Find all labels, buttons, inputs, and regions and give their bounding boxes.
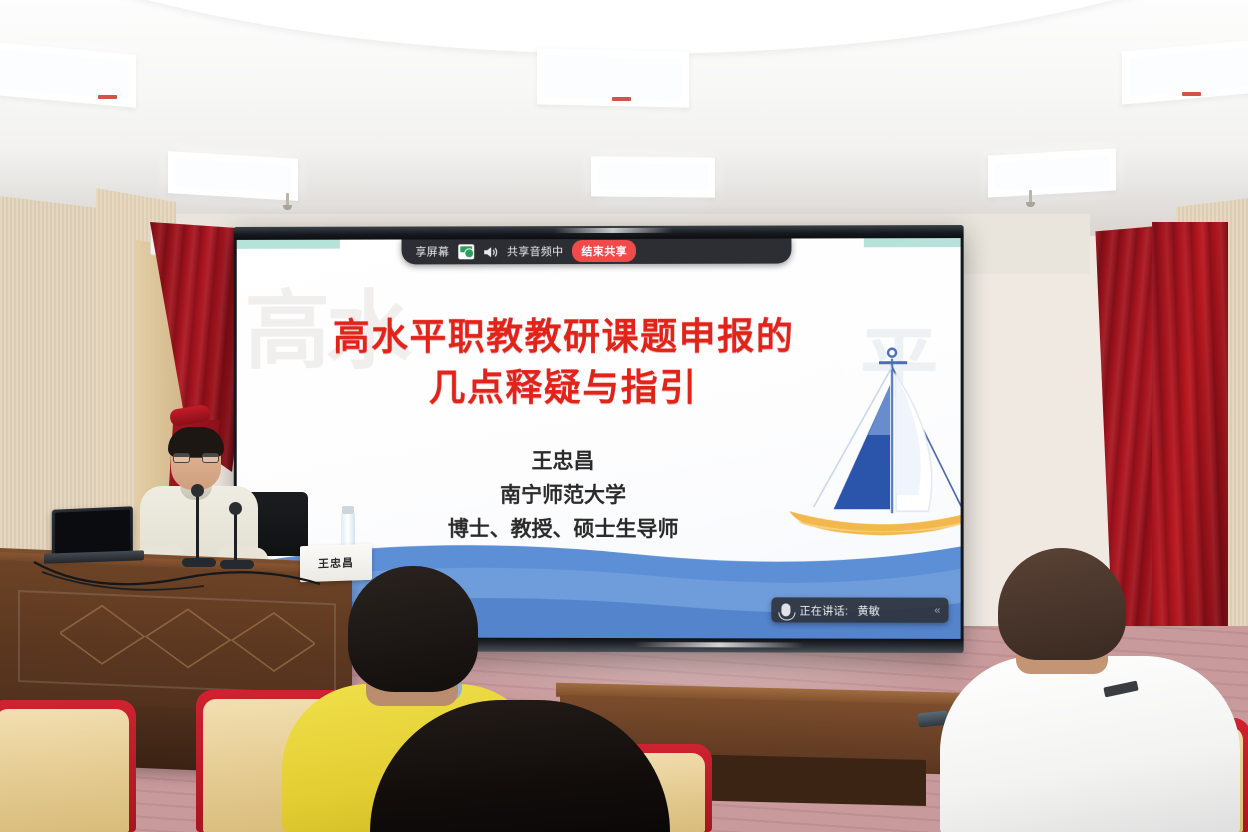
attendee-long-hair <box>370 700 670 832</box>
lecture-hall-screenshot: 高水 平 高水平职教教研课题申报的 几点释疑与指引 王忠昌 南宁师范大学 博士、… <box>0 0 1248 832</box>
screen-share-toolbar[interactable]: 享屏幕 共享音频中 结束共享 <box>402 238 792 264</box>
microphone-head <box>229 502 242 515</box>
attendee-white-shirt <box>940 548 1240 832</box>
ceiling <box>0 0 1248 236</box>
attendee-head <box>998 548 1126 660</box>
microphone-stand <box>196 490 199 562</box>
attendee-head <box>348 566 478 692</box>
chevron-collapse-icon[interactable]: « <box>934 604 938 616</box>
ceiling-arc <box>0 0 1248 54</box>
ceiling-light-panel <box>988 148 1116 197</box>
ceiling-light-panel <box>168 151 298 201</box>
slide-presenter-name: 王忠昌 <box>284 445 843 479</box>
ceiling-light-panel <box>591 156 715 197</box>
slide-title-line-1: 高水平职教教研课题申报的 <box>284 311 843 363</box>
panel-marker <box>1182 92 1201 96</box>
attendee-head <box>370 700 670 832</box>
theatre-seat[interactable] <box>0 700 136 832</box>
bottle-cap <box>342 506 354 514</box>
slide-affiliation: 南宁师范大学 <box>284 479 843 513</box>
podium-diamond-detail <box>60 600 315 677</box>
panel-marker <box>612 97 631 101</box>
panel-marker <box>98 95 117 99</box>
slide-accent-left <box>237 240 340 249</box>
end-share-button[interactable]: 结束共享 <box>572 240 636 262</box>
sprinkler-head-icon <box>1029 190 1032 207</box>
active-speaker-indicator[interactable]: 正在讲话: 黄敏 « <box>771 597 948 622</box>
active-speaker-name: 黄敏 <box>857 602 880 618</box>
slide-accent-right <box>864 238 961 247</box>
microphone-head <box>191 484 204 497</box>
attendee-shirt <box>940 656 1240 832</box>
share-screen-label: 享屏幕 <box>415 243 449 259</box>
audio-sharing-label: 共享音频中 <box>507 243 563 259</box>
desk-cables <box>24 556 324 600</box>
screen-share-doc-icon[interactable] <box>458 244 474 259</box>
speaker-icon[interactable] <box>483 245 498 257</box>
eyeglasses-icon <box>173 453 219 463</box>
slide-title-line-2: 几点释疑与指引 <box>284 362 843 413</box>
sprinkler-head-icon <box>286 193 289 210</box>
microphone-icon <box>781 603 790 616</box>
speaking-status-label: 正在讲话: <box>799 602 848 618</box>
slide-title: 高水平职教教研课题申报的 几点释疑与指引 <box>284 311 843 414</box>
